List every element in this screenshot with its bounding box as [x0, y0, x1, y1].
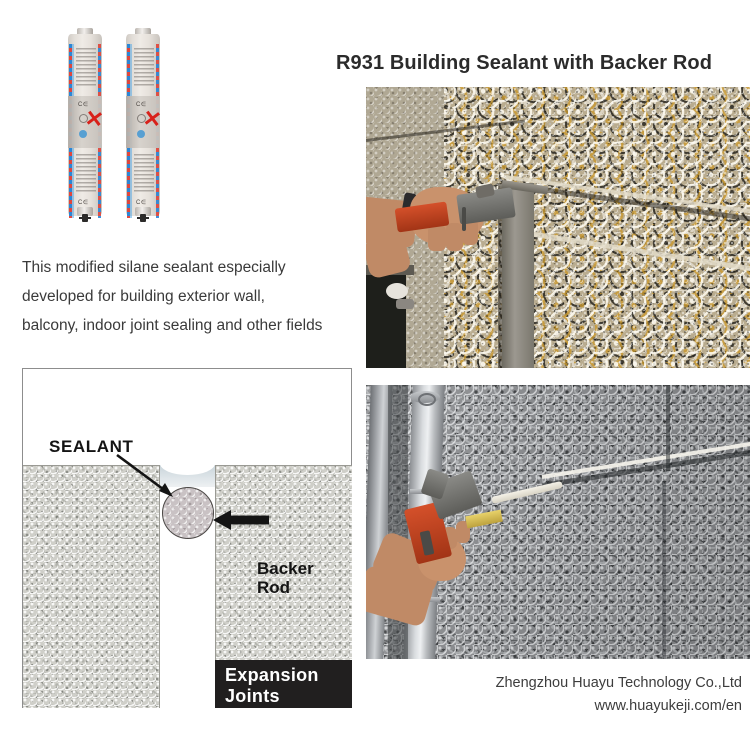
footer: Zhengzhou Huayu Technology Co.,Ltd www.h…: [302, 672, 742, 718]
backer-rod-cross-section-diagram: SEALANT Backer Rod Expansion Joints: [22, 368, 352, 708]
cartridge-print-bottom: [134, 154, 154, 194]
ce-mark-icon: C∈: [78, 102, 92, 109]
cert-icon-2: [137, 130, 145, 138]
page-title: R931 Building Sealant with Backer Rod: [336, 52, 712, 75]
description-line-2: developed for building exterior wall,: [22, 282, 342, 311]
cartridge-print-top: [134, 48, 154, 88]
finger-2: [446, 223, 463, 251]
cartridge-body: ✕ C∈ C∈: [68, 34, 102, 216]
cartridge-print-top: [76, 48, 96, 88]
cartridge-body: ✕ C∈ C∈: [126, 34, 160, 216]
sealant-cartridge-1: ✕ C∈ C∈: [68, 28, 102, 224]
ladder-rung-hole: [418, 393, 436, 406]
backer-rod-label-line-2: Rod: [257, 578, 314, 597]
ce-mark-icon-bottom: C∈: [78, 200, 92, 207]
cartridge-clip: [82, 214, 88, 222]
company-name: Zhengzhou Huayu Technology Co.,Ltd: [302, 672, 742, 695]
dark-opening: [366, 265, 406, 368]
product-image-group: ✕ C∈ C∈ ✕ C∈ C∈: [60, 20, 190, 235]
description-line-3: balcony, indoor joint sealing and other …: [22, 311, 342, 340]
fitting-grey: [396, 299, 414, 309]
application-photo-aggregate-wall: [366, 87, 750, 368]
application-photo-concrete-wall: [366, 385, 750, 659]
finger-1: [428, 225, 446, 251]
ce-mark-icon-bottom: C∈: [136, 200, 150, 207]
fitting-white: [386, 283, 408, 299]
product-description: This modified silane sealant especially …: [22, 253, 342, 340]
joint-vertical-upper: [666, 385, 670, 471]
cert-icon-2: [79, 130, 87, 138]
description-line-1: This modified silane sealant especially: [22, 253, 342, 282]
cert-icon-1: [79, 114, 88, 123]
sealant-arrow-icon: [115, 453, 195, 509]
gun-trigger: [462, 207, 466, 231]
diagram-label-backer-rod: Backer Rod: [257, 559, 314, 597]
cartridge-clip: [140, 214, 146, 222]
backer-rod-arrow-icon: [211, 507, 273, 533]
ce-mark-icon: C∈: [136, 102, 150, 109]
backer-rod-label-line-1: Backer: [257, 559, 314, 578]
sealant-cartridge-2: ✕ C∈ C∈: [126, 28, 160, 224]
cert-icon-1: [137, 114, 146, 123]
company-website[interactable]: www.huayukeji.com/en: [302, 695, 742, 718]
cartridge-print-bottom: [76, 154, 96, 194]
joint-vertical-lower: [662, 481, 666, 659]
